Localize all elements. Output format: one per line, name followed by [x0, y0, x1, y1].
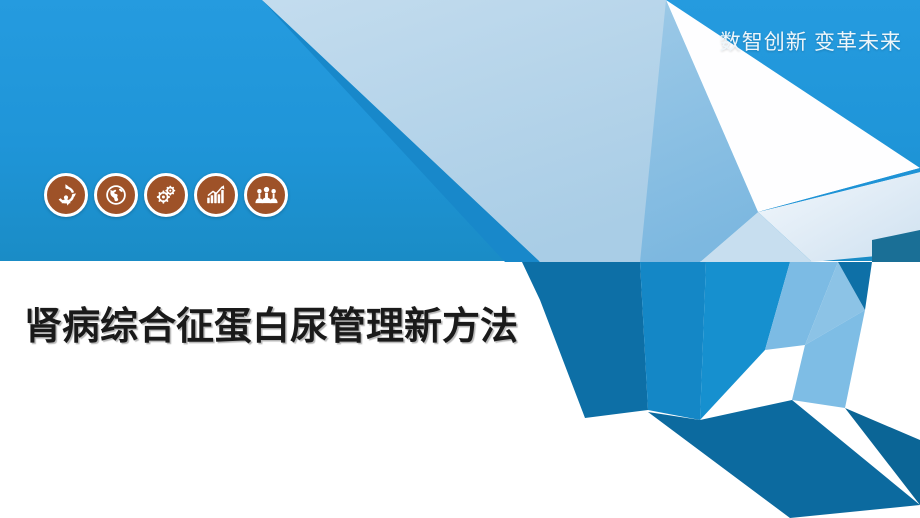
people-group-icon: [254, 183, 279, 207]
icon-badge-recycle[interactable]: [44, 173, 88, 217]
gears-icon: [154, 183, 178, 207]
slide-canvas: 数智创新 变革未来: [0, 0, 920, 518]
icon-badge-people[interactable]: [244, 173, 288, 217]
header-tagline: 数智创新 变革未来: [720, 26, 902, 56]
icon-badge-globe[interactable]: [94, 173, 138, 217]
page-title: 肾病综合征蛋白尿管理新方法: [24, 300, 544, 354]
polygon-decoration: [0, 0, 920, 518]
icon-badge-gears[interactable]: [144, 173, 188, 217]
poly-mid-blue-lower: [640, 262, 706, 420]
bar-chart-growth-icon: [204, 183, 228, 207]
globe-icon: [104, 183, 128, 207]
icon-badge-bar-chart[interactable]: [194, 173, 238, 217]
icon-strip: [44, 173, 288, 217]
recycle-arrows-icon: [54, 183, 78, 207]
